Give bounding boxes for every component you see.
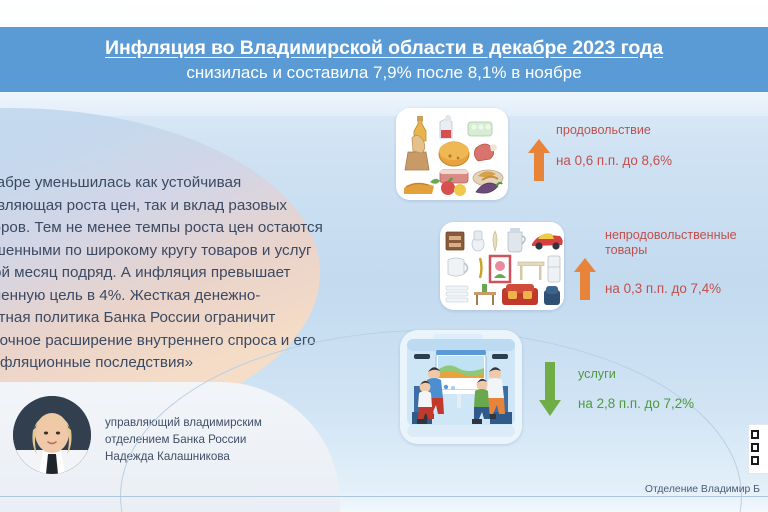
- arrow-up-icon: [573, 258, 597, 305]
- arrow-down-icon: [538, 362, 562, 421]
- stat-label-services: услуги: [578, 367, 616, 382]
- bottom-divider: [0, 496, 768, 497]
- stat-value-nonfood: на 0,3 п.п. до 7,4%: [605, 281, 721, 296]
- page-title: Инфляция во Владимирской области в декаб…: [105, 38, 663, 59]
- stat-label-food: продовольствие: [556, 123, 651, 138]
- top-white-strip: [0, 0, 768, 27]
- banner-underline-strip: [0, 92, 768, 116]
- stat-value-food: на 0,6 п.п. до 8,6%: [556, 153, 672, 168]
- header-banner: Инфляция во Владимирской области в декаб…: [0, 27, 768, 92]
- page-subtitle: снизилась и составила 7,9% после 8,1% в …: [186, 64, 581, 82]
- food-basket-illustration: [396, 108, 508, 200]
- train-passengers-illustration: [400, 330, 522, 444]
- stat-value-services: на 2,8 п.п. до 7,2%: [578, 396, 694, 411]
- bank-of-russia-logo: [748, 424, 768, 474]
- infographic-slide: Инфляция во Владимирской области в декаб…: [0, 0, 768, 512]
- stat-label-nonfood: непродовольственные товары: [605, 228, 737, 258]
- household-goods-illustration: [440, 222, 564, 310]
- quote-text: В декабре уменьшилась как устойчивая сос…: [0, 172, 328, 375]
- footer-text: Отделение Владимир Б: [645, 484, 760, 495]
- arrow-up-icon: [527, 139, 551, 186]
- avatar: [13, 396, 91, 474]
